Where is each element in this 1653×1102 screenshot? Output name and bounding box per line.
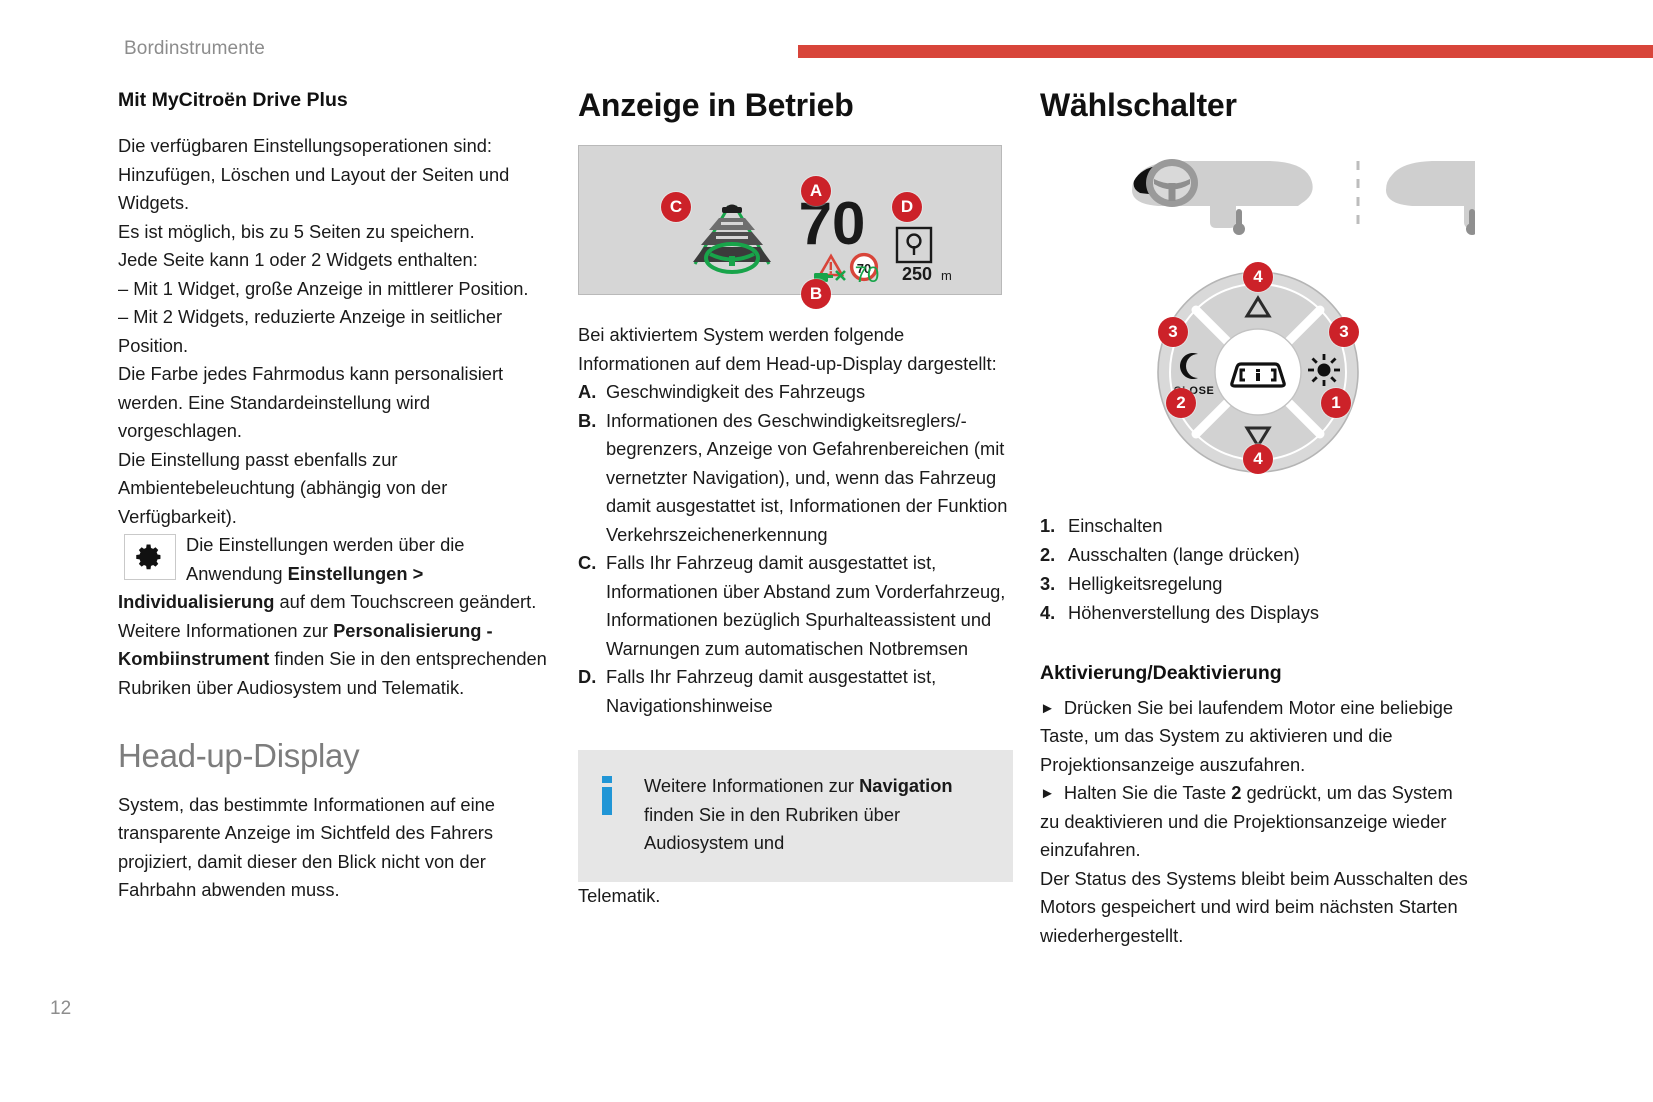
pad-callout-2: 2: [1166, 388, 1196, 418]
arrow-right-icon: ►: [1040, 701, 1055, 716]
ref-pre: Weitere Informationen zur: [118, 620, 333, 641]
arrow-bullet-deactivate: ►Halten Sie die Taste 2 gedrückt, um das…: [1040, 779, 1475, 865]
info-post: finden Sie in den Rubriken über Audiosys…: [644, 804, 900, 854]
list-text: Höhenverstellung des Displays: [1068, 598, 1319, 627]
paragraph-hud-intro: Bei aktiviertem System werden folgende I…: [578, 321, 1013, 378]
pad-callout-3-left: 3: [1158, 317, 1188, 347]
callout-b: B: [801, 279, 831, 309]
list-text: Falls Ihr Fahrzeug damit ausgestattet is…: [606, 549, 1013, 663]
breadcrumb: Bordinstrumente: [124, 38, 265, 60]
list-text: Einschalten: [1068, 511, 1163, 540]
info-callout-text: Weitere Informationen zur Navigation fin…: [644, 772, 993, 858]
control-pad-figure: CLOSE 4 3: [1040, 254, 1475, 489]
info-bold: Navigation: [859, 775, 952, 796]
column-left: Mit MyCitroën Drive Plus Die verfügbaren…: [118, 88, 553, 905]
settings-note: Die Einstellungen werden über die Anwend…: [118, 531, 553, 617]
page-columns: Mit MyCitroën Drive Plus Die verfügbaren…: [0, 88, 1653, 1102]
list-marker: A.: [578, 378, 606, 407]
list-item: 2. Ausschalten (lange drücken): [1040, 540, 1475, 569]
pad-callout-4-top: 4: [1243, 262, 1273, 292]
list-marker: 4.: [1040, 598, 1068, 627]
gear-icon: [124, 534, 176, 580]
arrow-bullet-activate-text: Drücken Sie bei laufendem Motor eine bel…: [1040, 697, 1453, 775]
page-header: Bordinstrumente: [0, 0, 1653, 70]
list-item: B. Informationen des Geschwindigkeitsreg…: [578, 407, 1013, 550]
list-marker: C.: [578, 549, 606, 663]
list-item: C. Falls Ihr Fahrzeug damit ausgestattet…: [578, 549, 1013, 663]
header-red-rule: [798, 45, 1653, 58]
arrow-bold-key: 2: [1231, 782, 1241, 803]
section-heading-waehlschalter: Wählschalter: [1040, 88, 1475, 123]
info-callout-box: Weitere Informationen zur Navigation fin…: [578, 750, 1013, 882]
list-text: Falls Ihr Fahrzeug damit ausgestattet is…: [606, 663, 1013, 720]
callout-d: D: [892, 192, 922, 222]
section-heading-head-up-display: Head-up-Display: [118, 738, 553, 774]
hud-element-list: A. Geschwindigkeit des Fahrzeugs B. Info…: [578, 378, 1013, 720]
arrow-right-icon: ►: [1040, 786, 1055, 801]
info-callout-overflow: Telematik.: [578, 882, 1013, 911]
paragraph-hud-description: System, das bestimmte Informationen auf …: [118, 791, 553, 905]
hud-nav-distance-unit: m: [941, 268, 952, 283]
list-text: Ausschalten (lange drücken): [1068, 540, 1300, 569]
list-item: A. Geschwindigkeit des Fahrzeugs: [578, 378, 1013, 407]
list-marker: 1.: [1040, 511, 1068, 540]
paragraph-status-memory: Der Status des Systems bleibt beim Aussc…: [1040, 865, 1475, 951]
section-heading-anzeige-in-betrieb: Anzeige in Betrieb: [578, 88, 1013, 123]
list-text: Informationen des Geschwindigkeitsregler…: [606, 407, 1013, 550]
subheading-aktivierung: Aktivierung/Deaktivierung: [1040, 661, 1475, 685]
list-marker: 2.: [1040, 540, 1068, 569]
list-text: Geschwindigkeit des Fahrzeugs: [606, 378, 1013, 407]
callout-c: C: [661, 192, 691, 222]
control-pad-legend-list: 1. Einschalten 2. Ausschalten (lange drü…: [1040, 511, 1475, 627]
list-marker: B.: [578, 407, 606, 550]
info-icon: [602, 776, 612, 815]
list-item: 3. Helligkeitsregelung: [1040, 569, 1475, 598]
list-item: 1. Einschalten: [1040, 511, 1475, 540]
paragraph-settings: Die verfügbaren Einstellungsoperationen …: [118, 132, 553, 531]
list-text: Helligkeitsregelung: [1068, 569, 1222, 598]
column-middle: Anzeige in Betrieb: [578, 88, 1013, 910]
head-up-display-figure: 70 70 70: [578, 145, 1002, 295]
column-right: Wählschalter: [1040, 88, 1475, 950]
list-item: 4. Höhenverstellung des Displays: [1040, 598, 1475, 627]
arrow-pre: Halten Sie die Taste: [1064, 782, 1231, 803]
arrow-bullet-activate: ►Drücken Sie bei laufendem Motor eine be…: [1040, 694, 1475, 780]
list-item: D. Falls Ihr Fahrzeug damit ausgestattet…: [578, 663, 1013, 720]
pad-callout-1: 1: [1321, 388, 1351, 418]
info-pre: Weitere Informationen zur: [644, 775, 859, 796]
list-marker: D.: [578, 663, 606, 720]
dashboard-lhd-rhd-figure: [1040, 149, 1475, 244]
callout-a: A: [801, 176, 831, 206]
pad-callout-4-bottom: 4: [1243, 444, 1273, 474]
pad-callout-3-right: 3: [1329, 317, 1359, 347]
list-marker: 3.: [1040, 569, 1068, 598]
paragraph-personalisation-ref: Weitere Informationen zur Personalisieru…: [118, 617, 553, 703]
hud-nav-distance-text: 250: [902, 264, 932, 284]
hud-cruise-speed-text: 70: [855, 262, 879, 287]
page-number: 12: [50, 998, 71, 1020]
settings-note-text-post: auf dem Touchscreen geändert.: [274, 591, 536, 612]
subheading-mycitroen: Mit MyCitroën Drive Plus: [118, 88, 553, 112]
